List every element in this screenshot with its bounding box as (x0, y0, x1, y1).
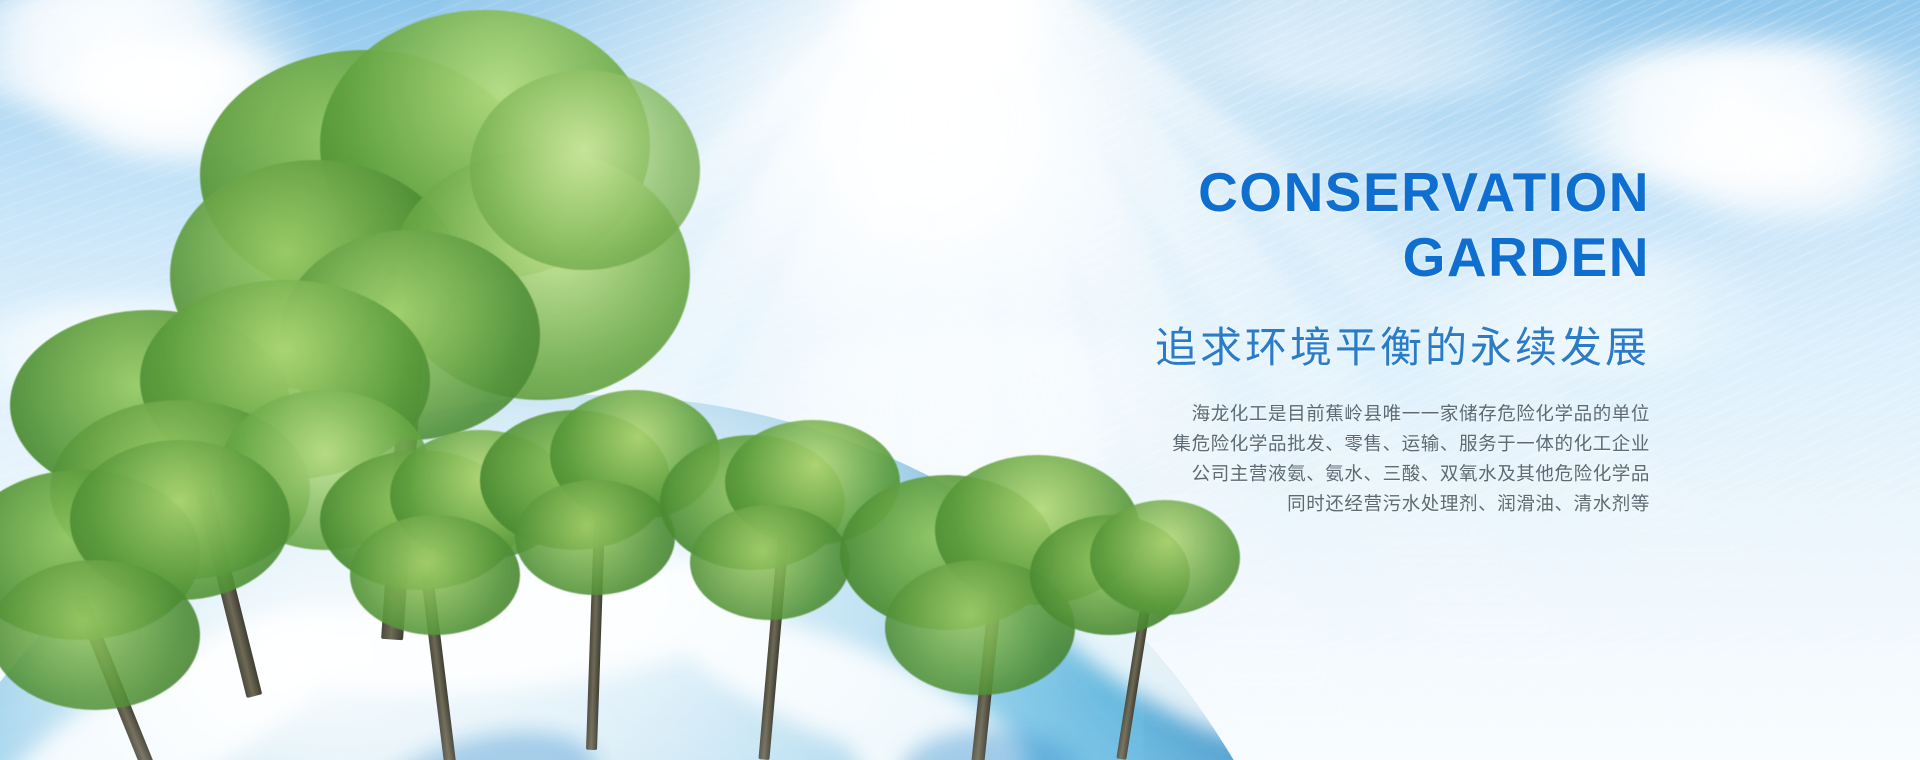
headline-english: CONSERVATION GARDEN (880, 160, 1650, 290)
headline-chinese: 追求环境平衡的永续发展 (880, 314, 1650, 375)
headline-english-line2: GARDEN (880, 225, 1650, 290)
body-copy-line: 公司主营液氨、氨水、三酸、双氧水及其他危险化学品 (880, 459, 1650, 489)
banner-body-copy: 海龙化工是目前蕉岭县唯一一家储存危险化学品的单位 集危险化学品批发、零售、运输、… (880, 399, 1650, 519)
body-copy-line: 集危险化学品批发、零售、运输、服务于一体的化工企业 (880, 429, 1650, 459)
headline-english-line1: CONSERVATION (1198, 161, 1650, 223)
tree (0, 440, 290, 760)
tree (1030, 500, 1240, 760)
tree-foliage (690, 505, 850, 620)
banner-text-panel: CONSERVATION GARDEN 追求环境平衡的永续发展 海龙化工是目前蕉… (880, 160, 1650, 519)
tree-foliage (515, 480, 675, 595)
hero-banner: CONSERVATION GARDEN 追求环境平衡的永续发展 海龙化工是目前蕉… (0, 0, 1920, 760)
body-copy-line: 同时还经营污水处理剂、润滑油、清水剂等 (880, 489, 1650, 519)
body-copy-line: 海龙化工是目前蕉岭县唯一一家储存危险化学品的单位 (880, 399, 1650, 429)
tree-foliage (470, 70, 700, 270)
tree-foliage (0, 560, 200, 710)
